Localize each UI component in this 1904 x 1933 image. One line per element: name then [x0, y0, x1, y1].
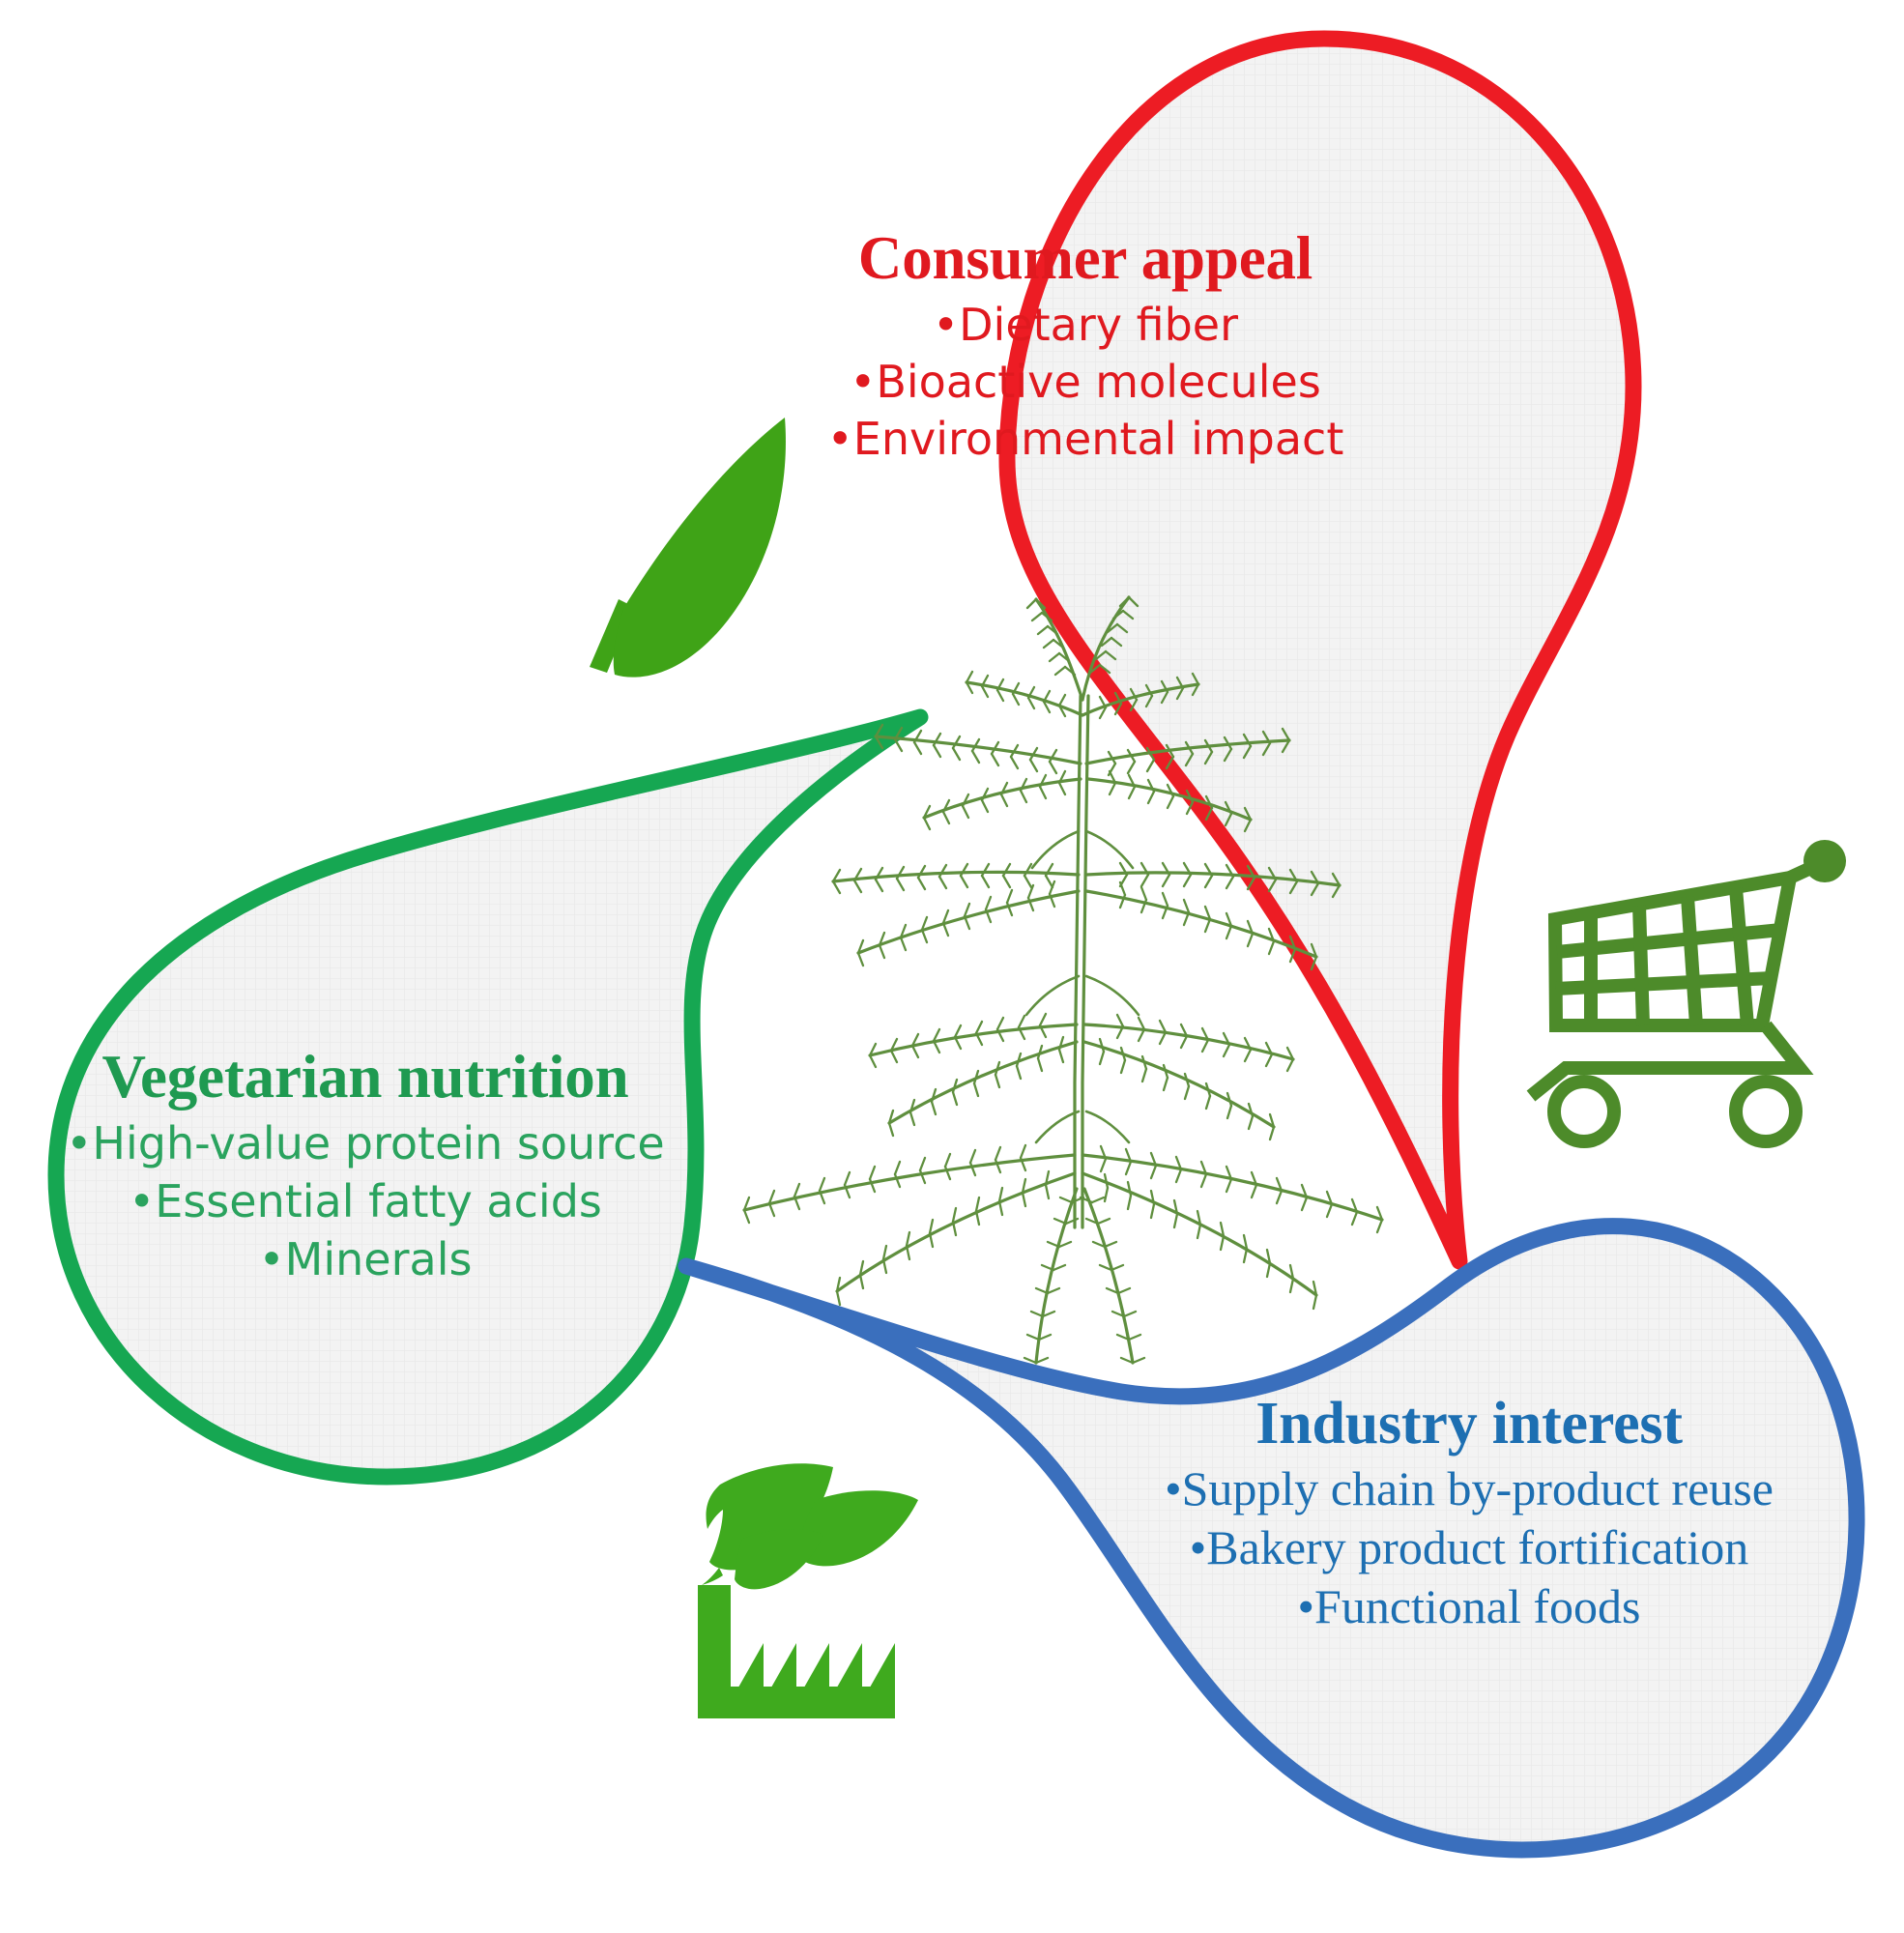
bubble-text-industry-interest: Industry interest •Supply chain by-produ… [1102, 1394, 1836, 1636]
bullet-item: •Bakery product fortification [1102, 1518, 1836, 1577]
bullet-item: •Minerals [56, 1231, 675, 1289]
bullet-item: •Functional foods [1102, 1577, 1836, 1636]
bullet-item: •Supply chain by-product reuse [1102, 1459, 1836, 1518]
bubble-bullets-industry-interest: •Supply chain by-product reuse •Bakery p… [1102, 1459, 1836, 1636]
bubble-bullets-vegetarian-nutrition: •High-value protein source •Essential fa… [56, 1115, 675, 1288]
bubble-text-vegetarian-nutrition: Vegetarian nutrition •High-value protein… [56, 1047, 675, 1288]
diagram-canvas: Consumer appeal •Dietary fiber •Bioactiv… [0, 0, 1904, 1933]
bubble-bullets-consumer-appeal: •Dietary fiber •Bioactive molecules •Env… [791, 297, 1380, 468]
bullet-item: •High-value protein source [56, 1115, 675, 1173]
bullet-item: •Bioactive molecules [791, 354, 1380, 411]
bullet-item: •Environmental impact [791, 411, 1380, 468]
bubble-text-consumer-appeal: Consumer appeal •Dietary fiber •Bioactiv… [791, 228, 1380, 468]
bubble-title-industry-interest: Industry interest [1102, 1394, 1836, 1454]
bubble-title-consumer-appeal: Consumer appeal [791, 228, 1380, 289]
bubble-title-vegetarian-nutrition: Vegetarian nutrition [56, 1047, 675, 1108]
bullet-item: •Dietary fiber [791, 297, 1380, 354]
bullet-item: •Essential fatty acids [56, 1173, 675, 1231]
